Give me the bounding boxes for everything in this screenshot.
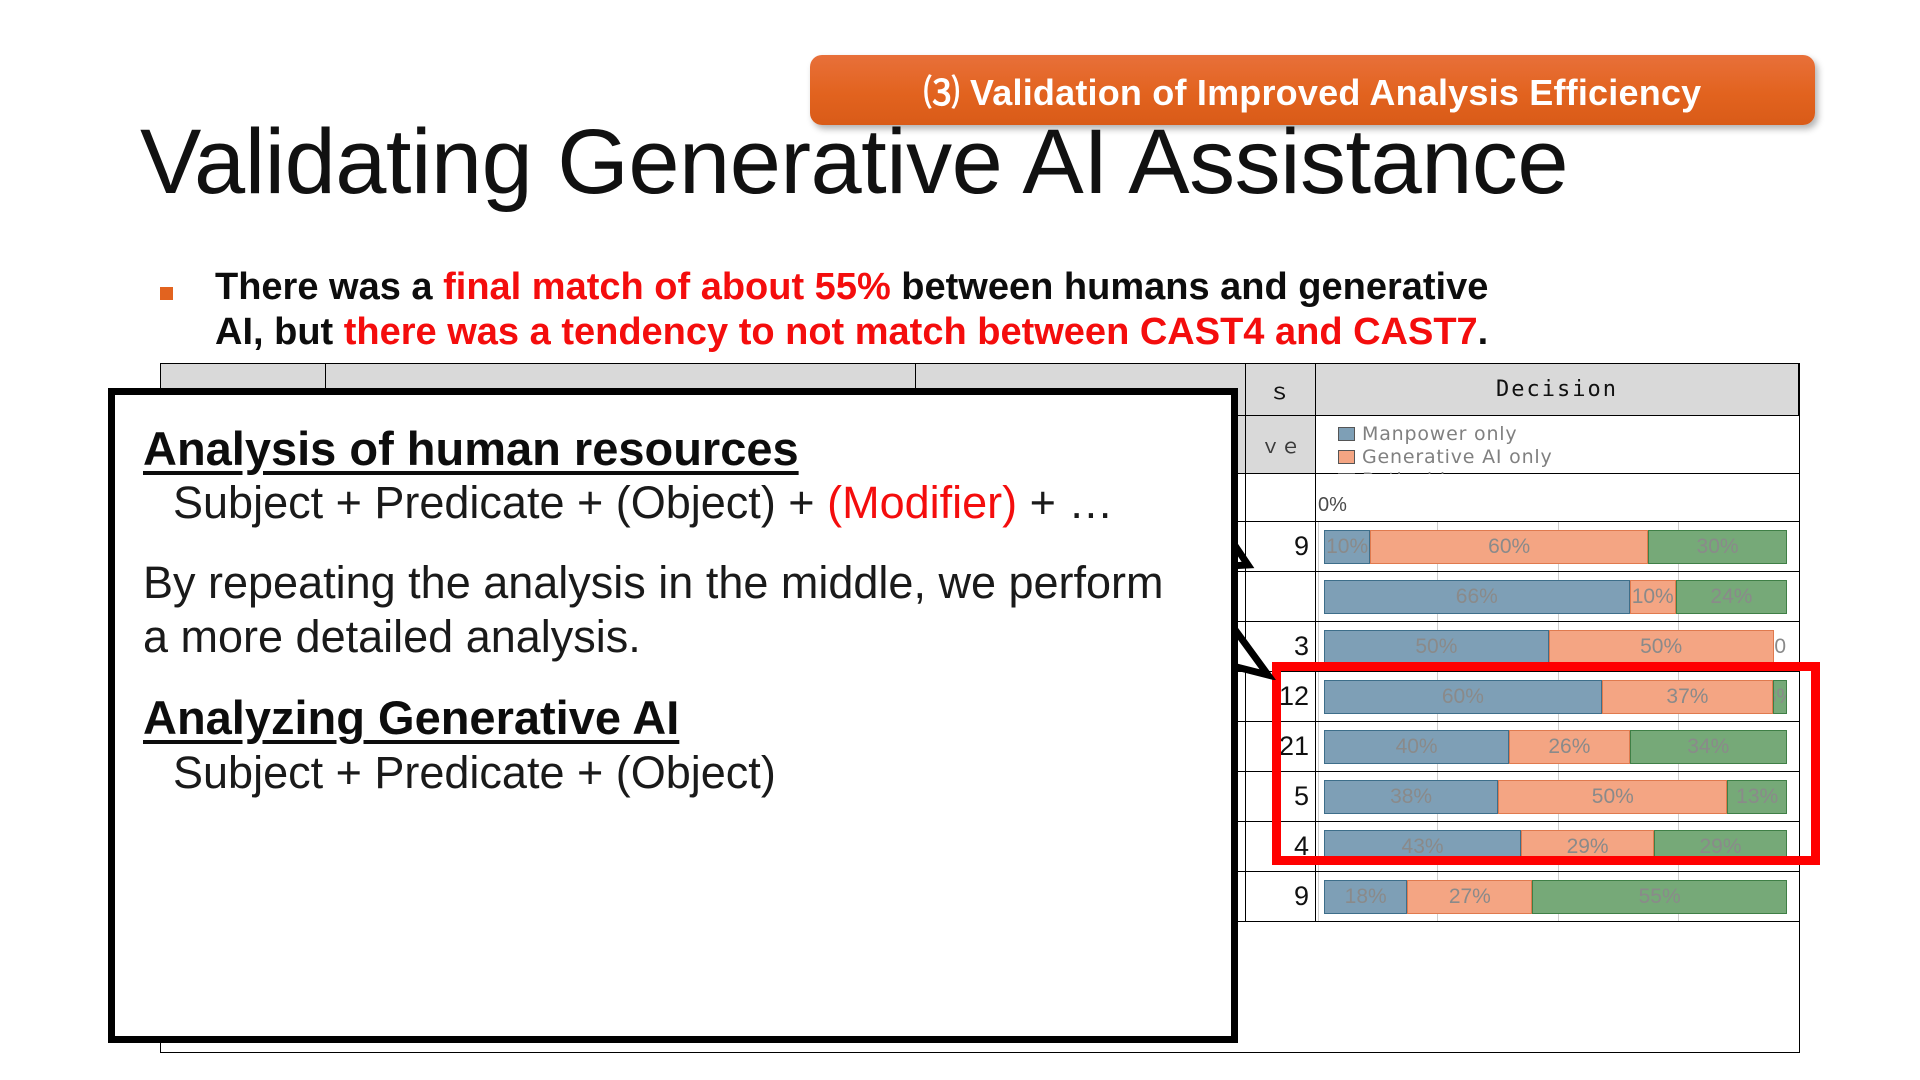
chart-gridline: [1318, 622, 1319, 671]
chart-row-bar: 38%50%13%: [1316, 772, 1799, 821]
stacked-bar: 38%50%13%: [1324, 780, 1787, 814]
bullet-marker-icon: [160, 287, 173, 300]
bar-segment-blue: 10%: [1324, 530, 1370, 564]
legend-swatch-manpower-icon: [1338, 427, 1355, 441]
bar-segment-orange: 37%: [1602, 680, 1773, 714]
callout-formula-human-black: Subject + Predicate + (Object) +: [173, 477, 827, 528]
callout-paragraph: By repeating the analysis in the middle,…: [143, 556, 1201, 664]
chart-row-bar: 60%37%3%: [1316, 672, 1799, 721]
chart-gridline: [1318, 522, 1319, 571]
axis-tick-0: 0%: [1318, 494, 1347, 517]
bullet-line2-plain: AI, but: [215, 311, 344, 353]
bar-segment-blue: 50%: [1324, 630, 1549, 664]
bullet-block: There was a final match of about 55% bet…: [155, 265, 1775, 355]
bar-segment-blue: 60%: [1324, 680, 1602, 714]
legend-swatch-generative-ai-icon: [1338, 450, 1355, 464]
stacked-bar: 10%60%30%: [1324, 530, 1787, 564]
bar-segment-orange: 50%: [1549, 630, 1774, 664]
bar-segment-green: 24%: [1676, 580, 1787, 614]
bar-segment-orange: 60%: [1370, 530, 1648, 564]
bar-segment-green: 0: [1774, 630, 1787, 664]
chart-row-bar: 43%29%29%: [1316, 822, 1799, 871]
section-badge-label: ⑶ Validation of Improved Analysis Effici…: [924, 64, 1702, 116]
bar-segment-orange: 50%: [1498, 780, 1727, 814]
stacked-bar: 40%26%34%: [1324, 730, 1787, 764]
bar-segment-green: 55%: [1532, 880, 1787, 914]
bullet-text: There was a final match of about 55% bet…: [215, 265, 1775, 355]
legend-label-manpower: Manpower only: [1362, 423, 1517, 445]
table-header-cell-decision: Decision: [1316, 364, 1799, 415]
callout-formula-human-red: (Modifier): [827, 477, 1017, 528]
bar-segment-blue: 18%: [1324, 880, 1407, 914]
legend-item-manpower: Manpower only: [1338, 422, 1517, 445]
bar-segment-orange: 27%: [1407, 880, 1532, 914]
bullet-line1-plain: There was a: [215, 266, 443, 308]
stacked-bar: 50%50%0: [1324, 630, 1787, 664]
chart-gridline: [1318, 572, 1319, 621]
bullet-line2-tail: .: [1478, 311, 1489, 353]
chart-row-count: 9: [1246, 872, 1316, 921]
bar-segment-green: 30%: [1648, 530, 1787, 564]
stacked-bar: 66%10%24%: [1324, 580, 1787, 614]
bar-segment-green: 34%: [1630, 730, 1787, 764]
chart-row-bar: 10%60%30%: [1316, 522, 1799, 571]
bar-segment-orange: 29%: [1521, 830, 1654, 864]
bar-segment-blue: 66%: [1324, 580, 1630, 614]
stacked-bar: 43%29%29%: [1324, 830, 1787, 864]
stacked-bar: 18%27%55%: [1324, 880, 1787, 914]
chart-gridline: [1318, 672, 1319, 721]
chart-row-bar: 40%26%34%: [1316, 722, 1799, 771]
bar-segment-orange: 10%: [1630, 580, 1676, 614]
stacked-bar: 60%37%3%: [1324, 680, 1787, 714]
callout-formula-human: Subject + Predicate + (Object) + (Modifi…: [143, 476, 1201, 530]
chart-legend: Manpower only Generative AI only Both si…: [1316, 416, 1799, 473]
callout-heading-human: Analysis of human resources: [143, 421, 1201, 476]
bar-segment-blue: 40%: [1324, 730, 1509, 764]
page-title: Validating Generative AI Assistance: [140, 110, 1840, 215]
chart-row-bar: 18%27%55%: [1316, 872, 1799, 921]
chart-row-count: 5: [1246, 772, 1316, 821]
bullet-line1-tail: between humans and generative: [891, 266, 1489, 308]
chart-row-bar: 66%10%24%: [1316, 572, 1799, 621]
callout-heading-ai: Analyzing Generative AI: [143, 690, 1201, 745]
bar-segment-green: 29%: [1654, 830, 1787, 864]
callout-formula-ai: Subject + Predicate + (Object): [143, 746, 1201, 800]
chart-row-bar: 50%50%0: [1316, 622, 1799, 671]
chart-gridline: [1318, 822, 1319, 871]
callout-formula-human-tail: + …: [1017, 477, 1113, 528]
chart-gridline: [1318, 872, 1319, 921]
chart-row-count: 4: [1246, 822, 1316, 871]
bar-segment-blue: 38%: [1324, 780, 1498, 814]
callout-box: Analysis of human resources Subject + Pr…: [108, 388, 1238, 1043]
bar-segment-green: 3%: [1773, 680, 1787, 714]
chart-gridline: [1318, 772, 1319, 821]
legend-label-generative-ai: Generative AI only: [1362, 446, 1553, 468]
bar-segment-orange: 26%: [1509, 730, 1629, 764]
chart-gridline: [1318, 722, 1319, 771]
bar-segment-green: 13%: [1727, 780, 1787, 814]
bullet-line2-highlight: there was a tendency to not match betwee…: [344, 311, 1478, 353]
legend-item-generative-ai: Generative AI only: [1338, 445, 1553, 468]
bar-segment-blue: 43%: [1324, 830, 1521, 864]
chart-row-count: 21: [1246, 722, 1316, 771]
bullet-line1-highlight: final match of about 55%: [443, 266, 891, 308]
axis-ticks: 0%: [1316, 474, 1799, 521]
